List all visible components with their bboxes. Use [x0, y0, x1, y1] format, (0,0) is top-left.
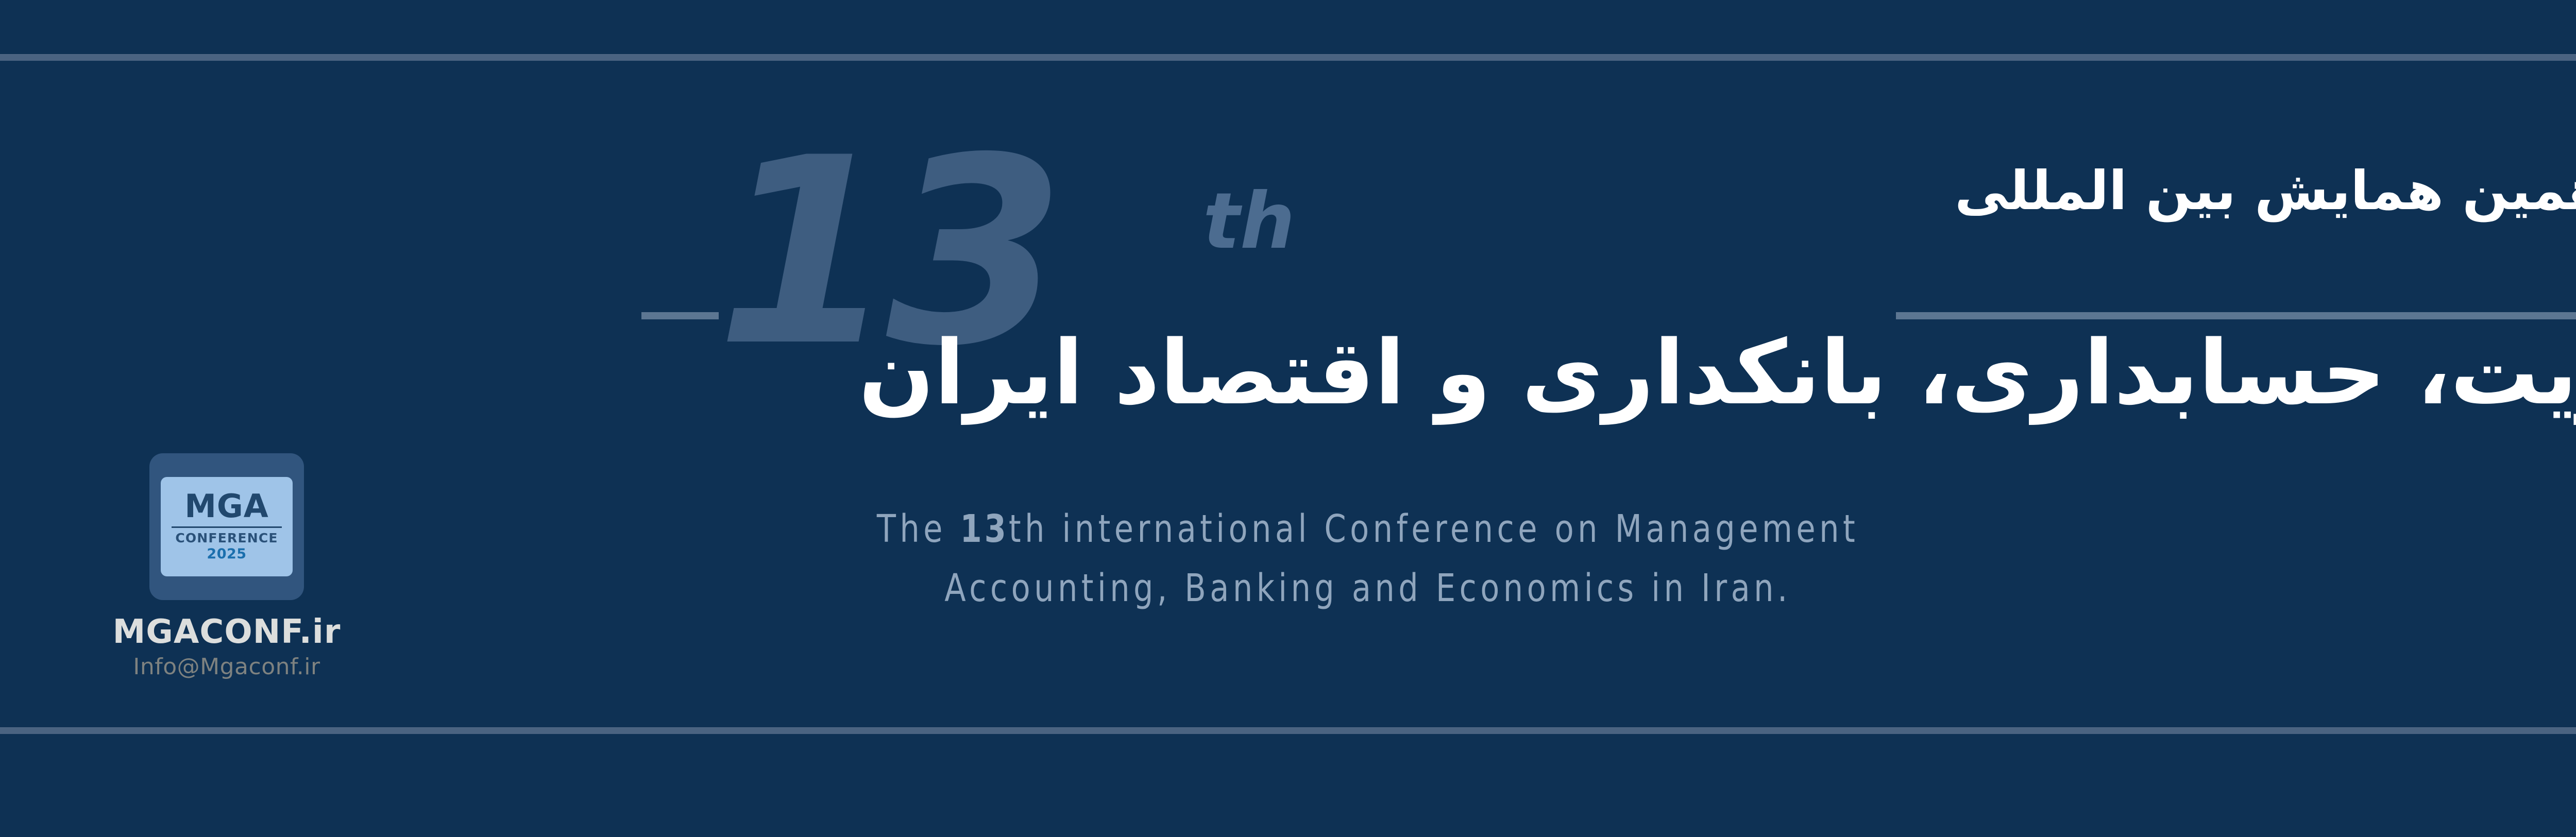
conference-banner: 13 th سیزدهمین همایش بین المللی مدیریت، … [0, 0, 2576, 837]
subtitle-line1-suffix: th international Conference on Managemen… [1009, 507, 1859, 551]
brand-block: MGA CONFERENCE 2025 MGACONF.ir Info@Mgac… [0, 453, 453, 679]
subtitle-line-2: Accounting, Banking and Economics in Ira… [246, 559, 2489, 618]
mga-logo-year: 2025 [207, 546, 246, 562]
mga-logo-mark: MGA [184, 491, 269, 522]
mga-logo-panel: MGA CONFERENCE 2025 [161, 477, 293, 576]
bottom-divider [0, 727, 2576, 734]
mga-logo-divider [172, 526, 282, 528]
top-divider [0, 54, 2576, 61]
subtitle-line1-prefix: The [877, 507, 960, 551]
title-persian: مدیریت، حسابداری، بانکداری و اقتصاد ایرا… [0, 329, 2576, 417]
contact-email[interactable]: Info@Mgaconf.ir [0, 655, 453, 679]
title-row: مدیریت، حسابداری، بانکداری و اقتصاد ایرا… [0, 288, 2576, 417]
website-url[interactable]: MGACONF.ir [0, 616, 453, 648]
kicker-persian: سیزدهمین همایش بین المللی [0, 164, 2576, 217]
subtitle-line-1: The 13th international Conference on Man… [246, 500, 2489, 559]
mga-logo-subtitle: CONFERENCE [175, 532, 278, 544]
title-rule-left [641, 312, 719, 319]
subtitle-line1-number: 13 [960, 507, 1009, 551]
title-rule-right [1896, 312, 2576, 319]
mga-logo[interactable]: MGA CONFERENCE 2025 [149, 453, 304, 600]
